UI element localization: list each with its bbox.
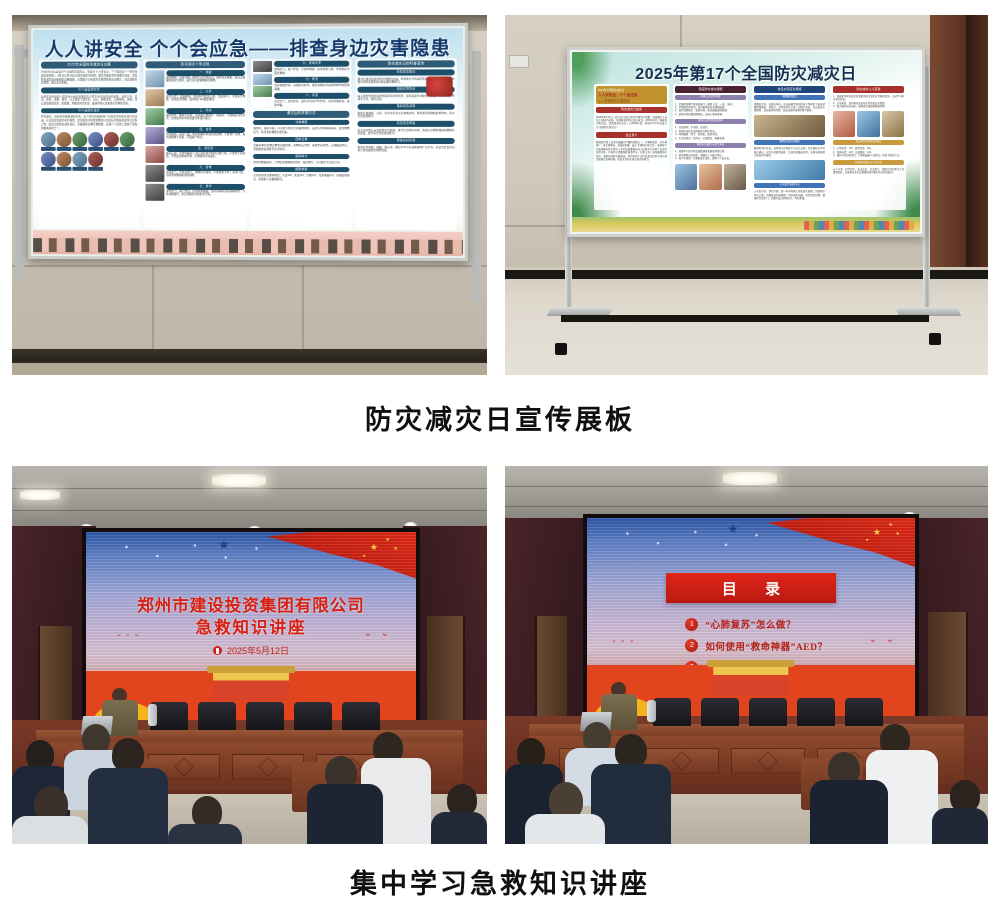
toc-text: “心肺复苏”怎么做？	[705, 617, 796, 631]
hazard-icon-grid	[41, 132, 137, 170]
board2-column-2: 家庭防灾减灾措施 居家安全隐患排查 1、定期检查燃气管道和阀门，做到“人走、火灭…	[673, 84, 748, 210]
section-body: 自然灾害是指给人类生存带来危害或损害人类生活环境的自然现象，包括干旱、洪涝、台风…	[41, 95, 137, 106]
tiananmen-graphic	[213, 671, 289, 701]
water-bottle	[148, 704, 157, 726]
board-column-1: 2025年全国防灾减灾日主题 今年5月12日是第17个全国防灾减灾日，主题为“人…	[39, 59, 139, 228]
toc-item: 2 如何使用“救命神器”AED？	[685, 639, 827, 653]
stage-chair	[749, 698, 787, 726]
stage-chair	[294, 702, 332, 730]
column-heading: 家庭防灾减灾措施	[675, 86, 746, 93]
stand-base-bar	[561, 315, 929, 322]
audience-head	[615, 734, 647, 768]
audience-torso	[168, 824, 242, 844]
stage-chair	[653, 698, 691, 726]
bullet-icon	[213, 646, 222, 655]
board-bracket-left	[15, 45, 24, 280]
audience-torso	[810, 780, 888, 844]
audience-torso	[12, 816, 88, 844]
section-body: 我国是世界上自然灾害最为严重的国家之一，灾害种类多、分布地域广、发生频率高、造成…	[596, 141, 667, 162]
column-heading: 防灾减灾十条法则	[145, 61, 245, 68]
slogan-line-2: ——排查身边灾害隐患	[598, 98, 665, 103]
column-body: 今年5月12日是第17个全国防灾减灾日，主题为“人人讲安全、个个会应急——排查身…	[41, 70, 137, 85]
toc-number: 2	[685, 639, 698, 652]
section-heading: 什么是自然灾害	[41, 87, 137, 93]
column-heading: 常见灾害应对措施	[754, 86, 825, 93]
audience-head	[112, 738, 144, 772]
column-heading: 防灾减灾人人有责	[833, 86, 904, 93]
stand-caster-right	[929, 333, 941, 345]
slide-title-line1: 郑州市建设投资集团有限公司	[86, 592, 416, 616]
disaster-prevention-board: 人人讲安全 个个会应急——排查身边灾害隐患 2025年全国防灾减灾日主题 今年5…	[28, 23, 468, 261]
toc-item: 1 “心肺复苏”怎么做？	[685, 617, 796, 631]
figure-lecture-title-photo: ★ ★ ★ ★ ★ 郑州市建设投资集团有限公司 急救知识讲座 2025年5月12…	[12, 466, 487, 844]
year-tag: 2025年全国防灾减灾日	[598, 88, 665, 92]
column-body: 2008年5月12日，四川汶川发生里氏8.0级特大地震，造成重大人员伤亡和财产损…	[596, 116, 667, 130]
ceiling-panel-light	[212, 474, 266, 487]
column-heading: 2025年全国防灾减灾日主题	[41, 61, 137, 68]
stage-chair	[701, 698, 739, 726]
floor-strip	[12, 363, 487, 375]
board-bracket-right	[472, 51, 481, 301]
wall-plaque	[509, 55, 529, 68]
board-decorative-footer	[572, 217, 920, 232]
toc-title: 目 录	[710, 578, 792, 599]
section-heading: 设立意义	[596, 132, 667, 139]
document-page: 人人讲安全 个个会应急——排查身边灾害隐患 2025年全国防灾减灾日主题 今年5…	[0, 0, 1000, 912]
stage-chair	[342, 702, 380, 730]
column-heading: 防灾减灾日由来	[596, 107, 667, 114]
board2-column-3: 常见灾害应对措施 地震避险要点 地震发生时，如果在室内，应迅速躲到坚固的桌子等家…	[752, 84, 827, 210]
stage-chair	[845, 698, 883, 726]
meeting-room: ★ ★ ★ ★ ★ 郑州市建设投资集团有限公司 急救知识讲座 2025年5月12…	[12, 466, 487, 844]
figure-caption-top: 防灾减灾日宣传展板	[0, 398, 1000, 437]
bird-decoration-icon: ⌄ ⌄	[364, 628, 392, 639]
stage-chair	[198, 702, 236, 730]
bird-decoration-icon: ⌄⌄⌄	[116, 630, 143, 638]
audience-torso	[431, 812, 487, 844]
toc-text: 如何使用“救命神器”AED？	[705, 639, 827, 653]
board-column-3: 六、雷电灾害 雷电天气，减少外出，不使用电器，远离金属门窗、水管和高大孤立物体。…	[251, 59, 351, 230]
board-title: 人人讲安全 个个会应急——排查身边灾害隐患	[33, 33, 463, 62]
wall-seam	[12, 265, 487, 267]
column-sub-heading: 遇灾后的求援方式	[253, 110, 349, 117]
toc-title-bar: 目 录	[666, 573, 837, 603]
water-bottle	[647, 700, 656, 722]
board-decorative-footer	[33, 230, 463, 256]
figure-wall-board-photo: 人人讲安全 个个会应急——排查身边灾害隐患 2025年全国防灾减灾日主题 今年5…	[12, 15, 487, 375]
section-heading: 什么是防灾减灾	[41, 108, 137, 114]
slide-date: 2025年5月12日	[86, 644, 416, 657]
board2-column-1: 2025年全国防灾减灾日 人人讲安全、个个会应急 ——排查身边灾害隐患 防灾减灾…	[594, 84, 669, 210]
figure-lecture-contents-photo: ★ ★ ★ ★ ★ 目 录 1 “心肺复苏”怎么做？ 2	[505, 466, 988, 844]
board2-column-4: 防灾减灾人人有责 1、积极参加单位和社区组织的防灾减灾宣传教育活动，主动学习防灾…	[831, 84, 906, 210]
toc-number: 1	[685, 618, 698, 631]
stand-caster-left	[555, 343, 567, 355]
bird-decoration-icon: ⌄ ⌄	[869, 634, 897, 645]
board-column-2: 防灾减灾十条法则 一、地震遇到地震，沉着冷静，躲在空间小的房间，震时就近躲避，震…	[143, 59, 247, 229]
bird-decoration-icon: ⌄⌄⌄	[611, 636, 638, 644]
tiananmen-graphic	[713, 665, 788, 697]
ceiling-panel-light	[723, 472, 777, 485]
section-body: 防灾减灾，指的是防御和减轻灾害，是人类为抵御和减少自然灾害损失所进行的活动。它涉…	[41, 115, 137, 130]
board-title: 2025年第17个全国防灾减灾日	[572, 60, 920, 84]
audience-torso	[88, 768, 168, 844]
disaster-reduction-day-board: 2025年第17个全国防灾减灾日 2025年全国防灾减灾日 人人讲安全、个个会应…	[567, 47, 925, 237]
column-heading: 防灾减灾日的科普宣传	[358, 60, 455, 67]
floor-baseboard	[505, 270, 988, 279]
stage-chair	[246, 702, 284, 730]
audience-torso	[932, 808, 988, 844]
ceiling-panel-light	[20, 490, 60, 500]
figure-caption-bottom: 集中学习急救知识讲座	[0, 862, 1000, 901]
meeting-room: ★ ★ ★ ★ ★ 目 录 1 “心肺复苏”怎么做？ 2	[505, 466, 988, 844]
audience-torso	[525, 814, 605, 844]
figure-standing-board-photo: 2025年第17个全国防灾减灾日 2025年全国防灾减灾日 人人讲安全、个个会应…	[505, 15, 988, 375]
audience-torso	[307, 784, 383, 844]
stage-chair	[797, 698, 835, 726]
